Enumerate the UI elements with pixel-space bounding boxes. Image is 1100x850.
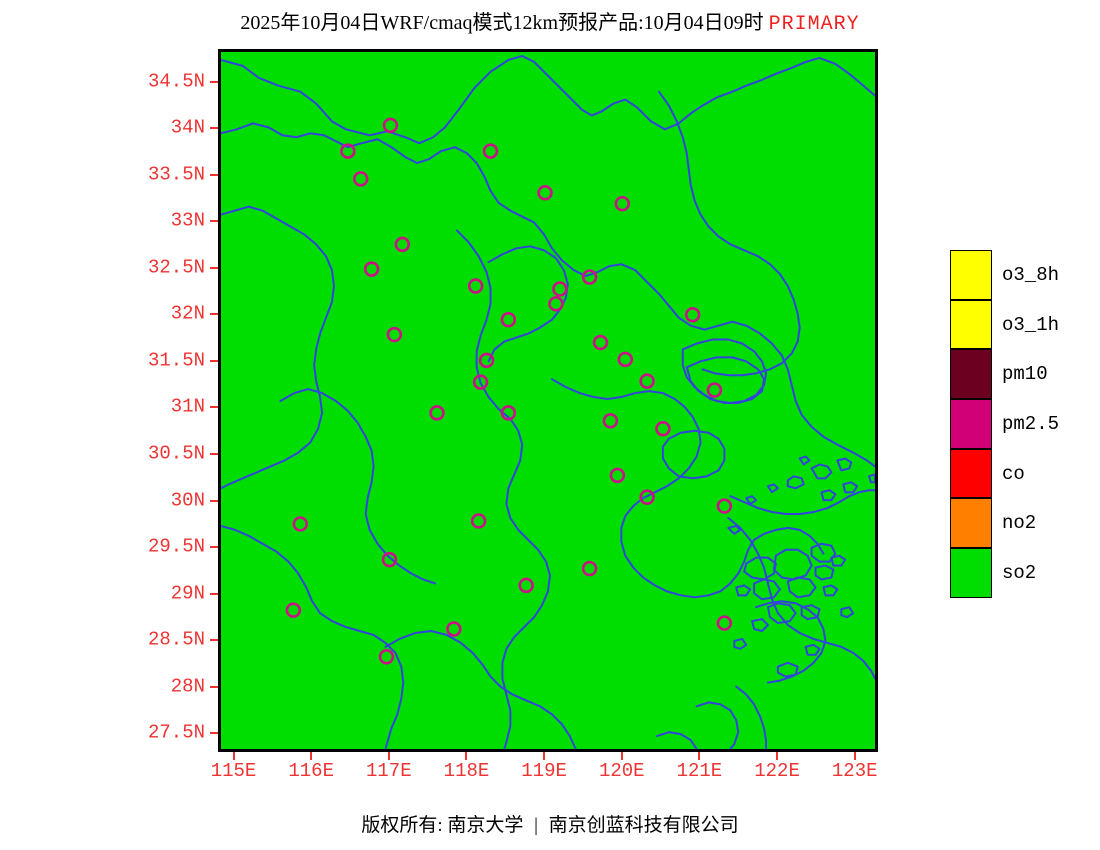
station-marker	[431, 406, 444, 419]
y-axis-tick-mark	[210, 313, 218, 315]
y-axis-tick-label: 28N	[60, 677, 205, 696]
station-marker	[604, 414, 617, 427]
map-plot-area[interactable]	[218, 49, 878, 752]
x-axis-tick-mark	[698, 752, 700, 760]
station-marker	[539, 186, 552, 199]
copyright-left: 版权所有: 南京大学	[361, 815, 523, 836]
station-marker	[365, 263, 378, 276]
chart-title: 2025年10月04日WRF/cmaq模式12km预报产品:10月04日09时 …	[0, 11, 1100, 37]
legend-color-swatch	[950, 250, 992, 300]
legend-color-swatch	[950, 300, 992, 350]
y-axis-tick-mark	[210, 546, 218, 548]
station-marker	[294, 517, 307, 530]
y-axis-tick-label: 30N	[60, 491, 205, 510]
legend-color-swatch	[950, 548, 992, 598]
x-axis-tick-label: 122E	[754, 762, 800, 781]
y-axis-tick-label: 29.5N	[60, 538, 205, 557]
station-marker	[708, 384, 721, 397]
x-axis-tick-mark	[233, 752, 235, 760]
y-axis-tick-mark	[210, 732, 218, 734]
x-axis-tick-label: 121E	[677, 762, 723, 781]
station-marker	[616, 197, 629, 210]
y-axis-tick-label: 27.5N	[60, 724, 205, 743]
map-geometry	[221, 52, 875, 749]
station-marker	[354, 172, 367, 185]
station-marker	[396, 238, 409, 251]
station-marker	[383, 553, 396, 566]
x-axis-tick-label: 119E	[521, 762, 567, 781]
station-marker	[469, 280, 482, 293]
x-axis-tick-label: 120E	[599, 762, 645, 781]
legend-item-label: o3_1h	[1002, 314, 1059, 336]
station-marker	[549, 297, 562, 310]
copyright-right: 南京创蓝科技有限公司	[549, 815, 739, 836]
y-axis-tick-label: 28.5N	[60, 631, 205, 650]
legend-color-swatch	[950, 498, 992, 548]
y-axis-tick-label: 32N	[60, 305, 205, 324]
station-marker	[619, 353, 632, 366]
station-marker	[718, 617, 731, 630]
visualization-canvas: 2025年10月04日WRF/cmaq模式12km预报产品:10月04日09时 …	[0, 0, 1100, 850]
y-axis-tick-mark	[210, 406, 218, 408]
x-axis-tick-mark	[465, 752, 467, 760]
y-axis-tick-mark	[210, 81, 218, 83]
station-marker	[657, 422, 670, 435]
chart-title-primary: PRIMARY	[769, 13, 860, 36]
station-marker	[388, 328, 401, 341]
legend-item-label: no2	[1002, 512, 1036, 534]
station-marker	[583, 562, 596, 575]
legend-item-label: o3_8h	[1002, 264, 1059, 286]
y-axis-tick-mark	[210, 127, 218, 129]
y-axis-tick-mark	[210, 686, 218, 688]
copyright-footer: 版权所有: 南京大学 | 南京创蓝科技有限公司	[0, 810, 1100, 837]
legend-color-swatch	[950, 399, 992, 449]
x-axis-tick-label: 117E	[366, 762, 412, 781]
station-markers[interactable]	[287, 119, 731, 663]
x-axis-tick-label: 123E	[832, 762, 878, 781]
station-marker	[641, 375, 654, 388]
y-axis-tick-label: 31.5N	[60, 351, 205, 370]
x-axis-tick-mark	[776, 752, 778, 760]
station-marker	[686, 308, 699, 321]
station-marker	[380, 650, 393, 663]
station-marker	[583, 271, 596, 284]
x-axis-tick-mark	[854, 752, 856, 760]
y-axis-tick-label: 33N	[60, 212, 205, 231]
x-axis-tick-mark	[621, 752, 623, 760]
legend-color-swatch	[950, 449, 992, 499]
y-axis-tick-mark	[210, 220, 218, 222]
station-marker	[287, 604, 300, 617]
y-axis-tick-label: 32.5N	[60, 258, 205, 277]
province-boundaries	[221, 56, 875, 749]
station-marker	[472, 515, 485, 528]
chart-title-main: 2025年10月04日WRF/cmaq模式12km预报产品:10月04日09时	[240, 12, 763, 34]
legend-item-label: so2	[1002, 562, 1036, 584]
x-axis-tick-mark	[310, 752, 312, 760]
copyright-separator: |	[528, 815, 544, 837]
y-axis-tick-mark	[210, 500, 218, 502]
y-axis-tick-label: 33.5N	[60, 165, 205, 184]
station-marker	[553, 283, 566, 296]
station-marker	[447, 623, 460, 636]
y-axis-tick-label: 31N	[60, 398, 205, 417]
y-axis-tick-label: 34.5N	[60, 72, 205, 91]
y-axis-tick-mark	[210, 639, 218, 641]
y-axis-tick-mark	[210, 174, 218, 176]
station-marker	[484, 145, 497, 158]
station-marker	[611, 469, 624, 482]
y-axis-tick-mark	[210, 360, 218, 362]
x-axis-tick-mark	[543, 752, 545, 760]
y-axis-tick-label: 29N	[60, 584, 205, 603]
y-axis-tick-label: 34N	[60, 119, 205, 138]
y-axis-tick-mark	[210, 267, 218, 269]
x-axis-tick-mark	[388, 752, 390, 760]
legend-item-label: co	[1002, 463, 1025, 485]
station-marker	[520, 579, 533, 592]
x-axis-tick-label: 118E	[444, 762, 490, 781]
y-axis-tick-label: 30.5N	[60, 445, 205, 464]
station-marker	[384, 119, 397, 132]
x-axis-tick-label: 116E	[288, 762, 334, 781]
y-axis-tick-mark	[210, 453, 218, 455]
y-axis-tick-mark	[210, 593, 218, 595]
legend-item-label: pm10	[1002, 363, 1048, 385]
station-marker	[480, 354, 493, 367]
x-axis-tick-label: 115E	[211, 762, 257, 781]
legend-item-label: pm2.5	[1002, 413, 1059, 435]
station-marker	[718, 500, 731, 513]
station-marker	[594, 336, 607, 349]
station-marker	[502, 313, 515, 326]
legend-color-swatch	[950, 349, 992, 399]
